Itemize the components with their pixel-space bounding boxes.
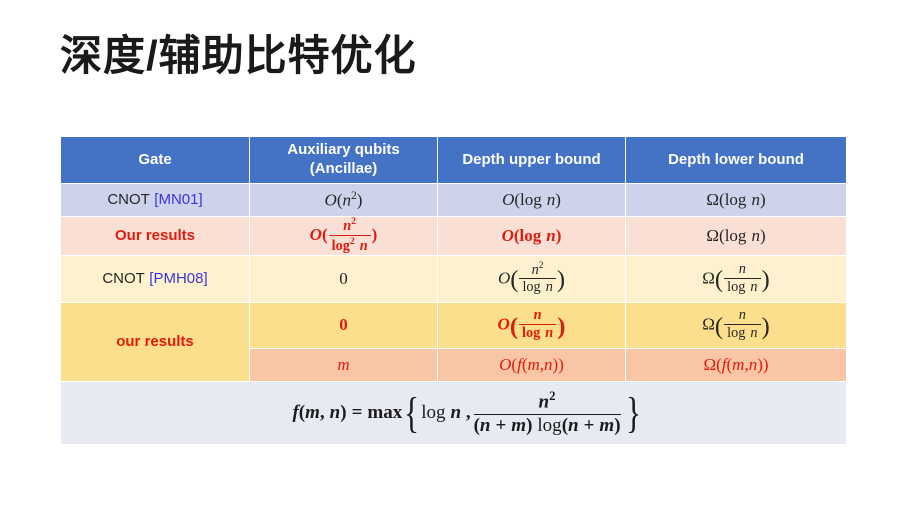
slide-canvas: 深度/辅助比特优化 Gate Auxiliary qubits (Ancilla…: [0, 0, 905, 507]
column-header-depth-upper-bound: Depth upper bound: [438, 137, 626, 184]
gate-name: CNOT: [107, 191, 150, 208]
cell-depth-upper-our-results-3: O(f(m,n)): [438, 349, 626, 382]
table-row: Our results O(n2log2n) O(logn) Ω(logn): [61, 217, 847, 256]
math-expression: O(logn): [502, 191, 561, 208]
column-header-auxiliary-label: Auxiliary qubits: [287, 141, 400, 158]
table-header-row: Gate Auxiliary qubits (Ancillae) Depth u…: [61, 137, 847, 184]
cell-footnote-formula: f(m,n)=max { logn , n2 (n+m)log(n+m) }: [61, 382, 847, 445]
cell-gate-our-results-merged: our results: [61, 303, 250, 382]
cell-auxiliary-cnot-mn01: O(n2): [250, 184, 438, 217]
math-expression: O(n2logn): [498, 262, 565, 297]
math-expression: O(n2log2n): [310, 218, 378, 254]
our-results-label: our results: [116, 333, 194, 350]
math-expression: O(n2): [325, 190, 363, 209]
cell-gate-our-results-1: Our results: [61, 217, 250, 256]
math-expression: 0: [339, 270, 348, 287]
gate-reference: [MN01]: [154, 191, 202, 208]
gate-reference: [PMH08]: [149, 270, 207, 287]
math-expression: Ω(nlogn): [702, 263, 769, 296]
math-expression: O(nlogn): [498, 309, 566, 342]
cell-depth-lower-cnot-pmh08: Ω(nlogn): [626, 256, 847, 303]
footnote-formula: f(m,n)=max { logn , n2 (n+m)log(n+m) }: [292, 389, 642, 437]
column-header-depth-upper-label: Depth upper bound: [462, 151, 600, 168]
cell-depth-lower-cnot-mn01: Ω(logn): [626, 184, 847, 217]
table-row: CNOT [MN01] O(n2) O(logn) Ω(logn): [61, 184, 847, 217]
cell-auxiliary-our-results-3: m: [250, 349, 438, 382]
cell-depth-lower-our-results-2: Ω(nlogn): [626, 303, 847, 349]
math-expression: Ω(logn): [706, 191, 765, 208]
table-row: our results 0 O(nlogn) Ω(nlogn): [61, 303, 847, 349]
cell-depth-upper-cnot-mn01: O(logn): [438, 184, 626, 217]
cell-gate-cnot-pmh08: CNOT [PMH08]: [61, 256, 250, 303]
math-expression: O(logn): [502, 227, 562, 244]
column-header-depth-lower-label: Depth lower bound: [668, 151, 804, 168]
page-title: 深度/辅助比特优化: [60, 33, 417, 79]
cell-auxiliary-our-results-2: 0: [250, 303, 438, 349]
column-header-auxiliary-sublabel: (Ancillae): [250, 160, 437, 179]
results-table: Gate Auxiliary qubits (Ancillae) Depth u…: [60, 136, 847, 445]
cell-depth-lower-our-results-3: Ω(f(m,n)): [626, 349, 847, 382]
cell-depth-upper-cnot-pmh08: O(n2logn): [438, 256, 626, 303]
column-header-gate-label: Gate: [138, 151, 171, 168]
cell-auxiliary-our-results-1: O(n2log2n): [250, 217, 438, 256]
table-row: CNOT [PMH08] 0 O(n2logn) Ω(nlogn): [61, 256, 847, 303]
math-expression: O(f(m,n)): [499, 356, 564, 373]
math-expression: Ω(logn): [706, 227, 765, 244]
cell-gate-cnot-mn01: CNOT [MN01]: [61, 184, 250, 217]
gate-name: CNOT: [102, 270, 145, 287]
table-footnote-row: f(m,n)=max { logn , n2 (n+m)log(n+m) }: [61, 382, 847, 445]
math-expression: 0: [339, 316, 348, 333]
column-header-depth-lower-bound: Depth lower bound: [626, 137, 847, 184]
cell-auxiliary-cnot-pmh08: 0: [250, 256, 438, 303]
column-header-gate: Gate: [61, 137, 250, 184]
math-expression: m: [337, 356, 349, 373]
column-header-auxiliary-qubits: Auxiliary qubits (Ancillae): [250, 137, 438, 184]
math-expression: Ω(nlogn): [702, 309, 769, 342]
cell-depth-upper-our-results-2: O(nlogn): [438, 303, 626, 349]
our-results-label: Our results: [115, 227, 195, 244]
math-expression: Ω(f(m,n)): [703, 356, 768, 373]
cell-depth-lower-our-results-1: Ω(logn): [626, 217, 847, 256]
results-table-container: Gate Auxiliary qubits (Ancillae) Depth u…: [60, 136, 846, 445]
cell-depth-upper-our-results-1: O(logn): [438, 217, 626, 256]
